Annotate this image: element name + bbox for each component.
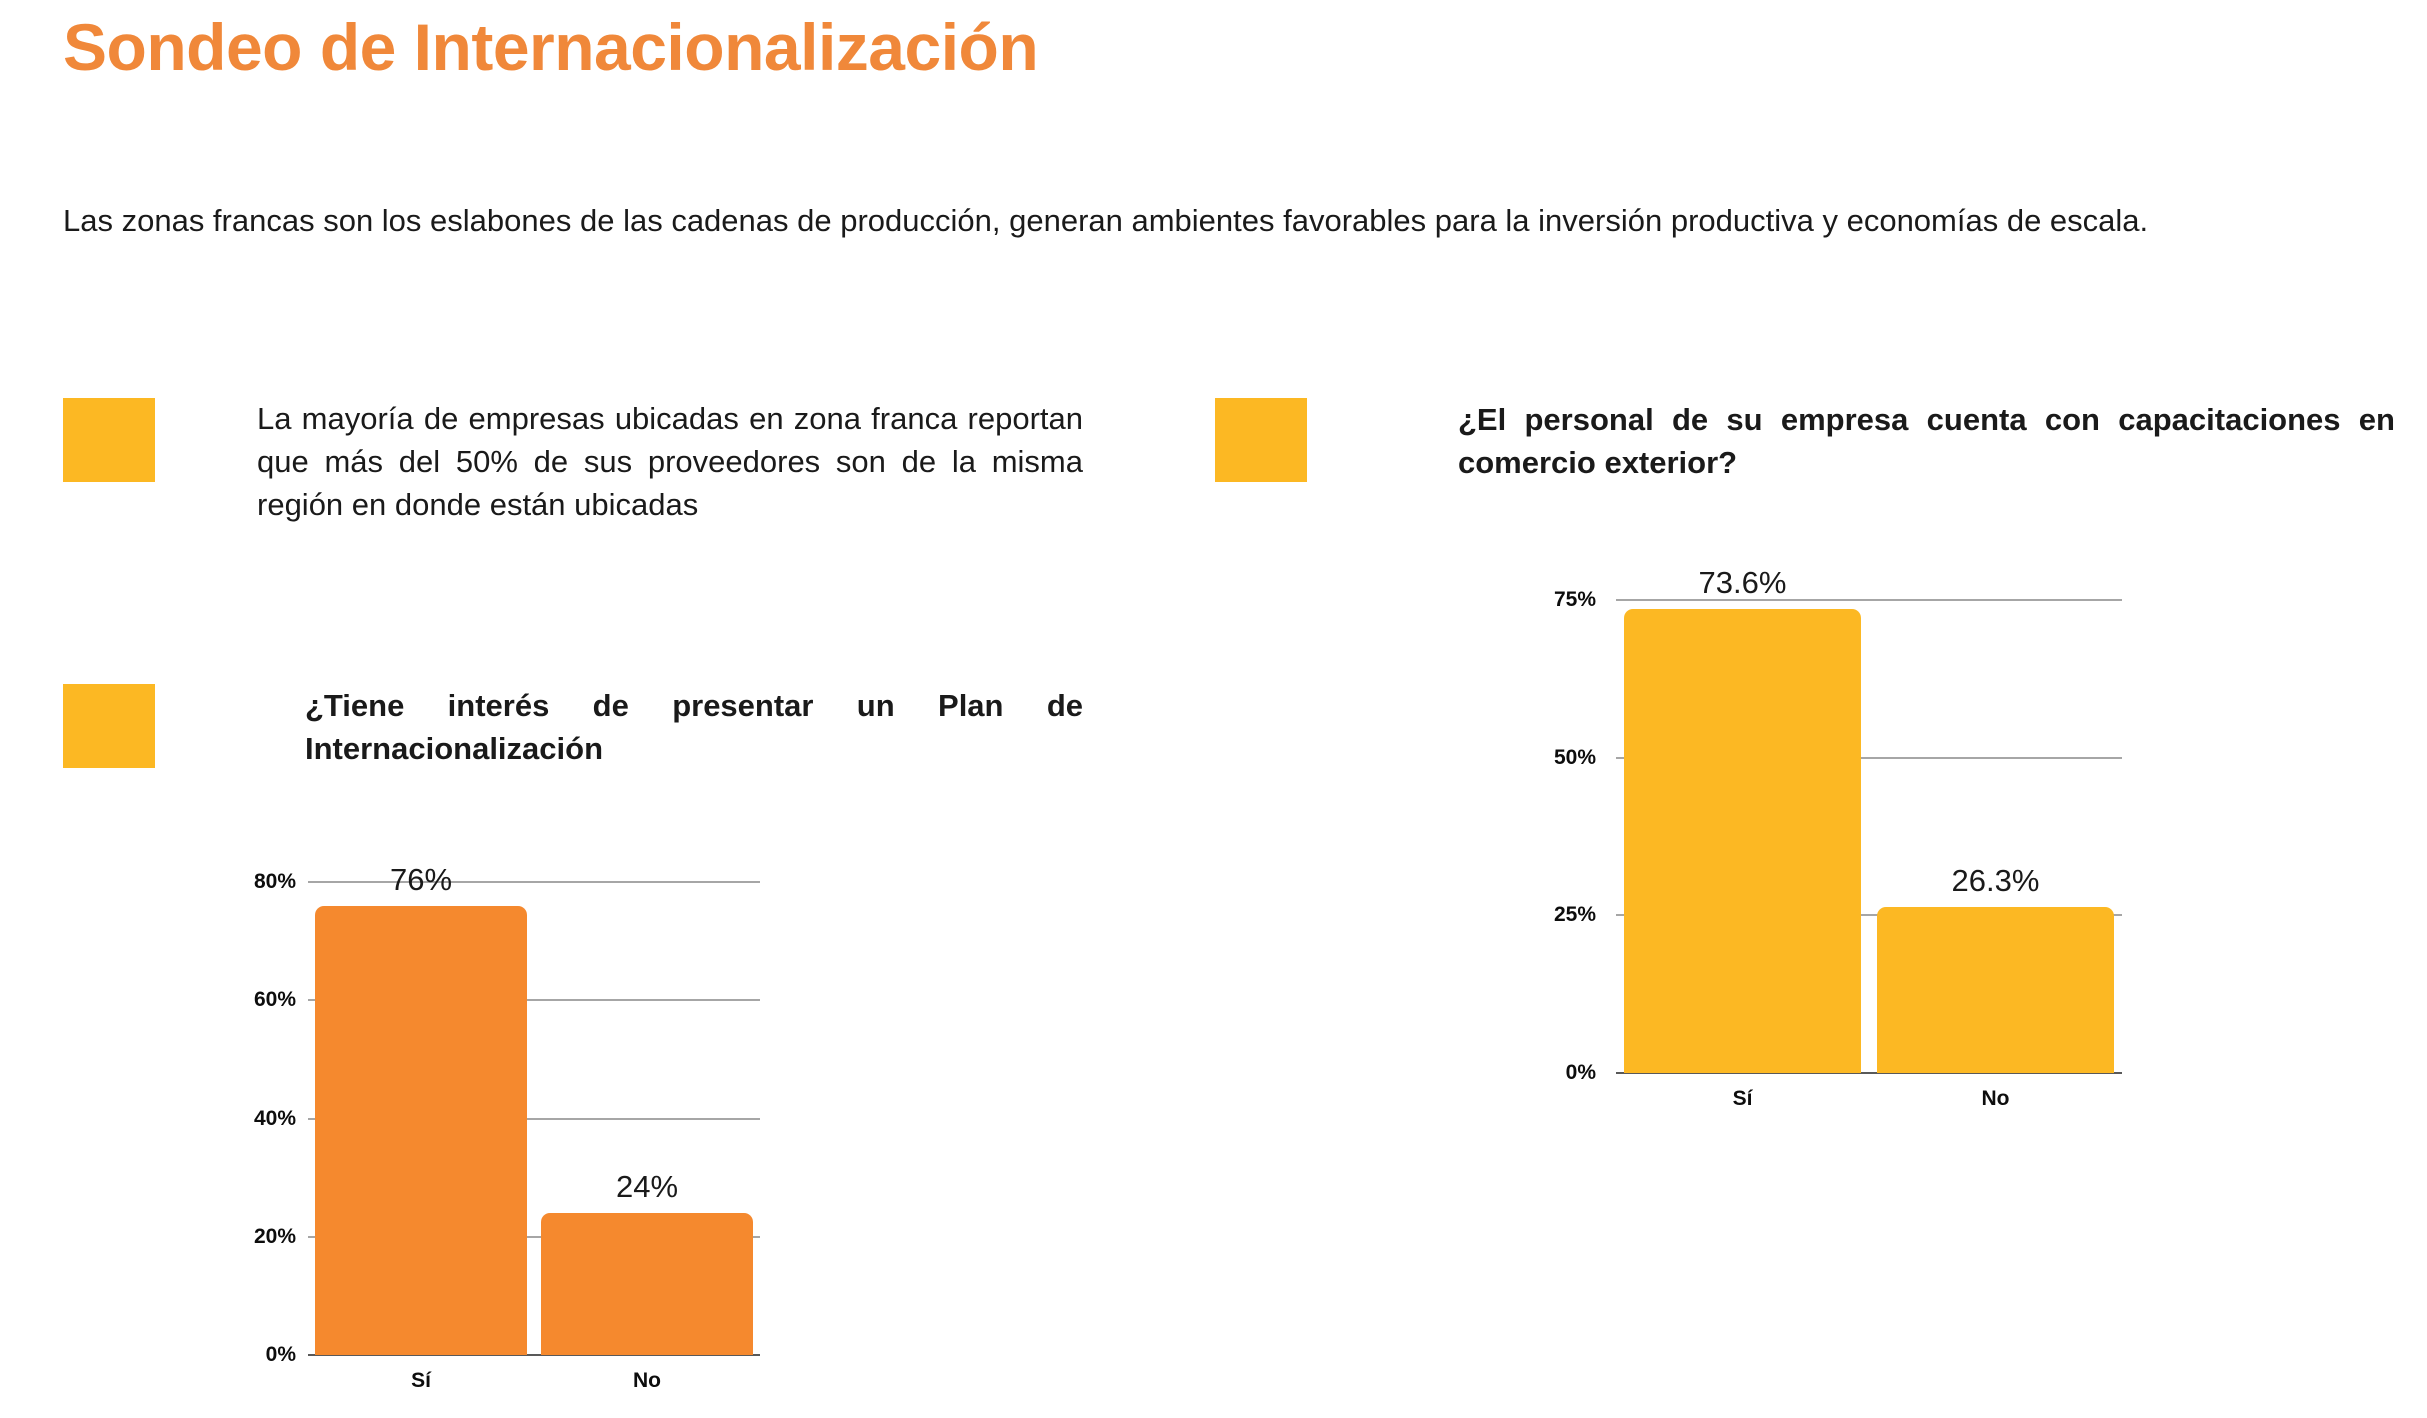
- page-title: Sondeo de Internacionalización: [63, 6, 1038, 89]
- y-axis-tick-label: 0%: [1530, 1061, 1596, 1085]
- y-axis-tick-label: 50%: [1530, 746, 1596, 770]
- bullet-square-icon: [63, 684, 155, 768]
- y-axis-tick-label: 75%: [1530, 588, 1596, 612]
- bar-no: [1877, 907, 2115, 1073]
- bar-chart-capacitaciones: 0%25%50%75%73.6%Sí26.3%No: [1530, 540, 2150, 1140]
- y-axis-tick-label: 60%: [230, 988, 296, 1012]
- bar-data-label: 24%: [527, 1169, 767, 1205]
- bullet-square-icon: [63, 398, 155, 482]
- bar-data-label: 73.6%: [1623, 565, 1863, 601]
- chart-plot-area: 0%25%50%75%73.6%Sí26.3%No: [1530, 540, 2150, 1140]
- x-axis-category-label: Sí: [1643, 1087, 1843, 1111]
- bullet-text-plan-internacionalizacion: ¿Tiene interés de presentar un Plan de I…: [305, 684, 1083, 771]
- bar-data-label: 26.3%: [1876, 863, 2116, 899]
- bullet-text-capacitaciones: ¿El personal de su empresa cuenta con ca…: [1458, 398, 2395, 485]
- y-axis-tick-label: 20%: [230, 1225, 296, 1249]
- x-axis-category-label: No: [547, 1369, 747, 1393]
- y-axis-tick-label: 25%: [1530, 903, 1596, 927]
- bullet-block-proveedores: La mayoría de empresas ubicadas en zona …: [63, 398, 1083, 526]
- y-axis-tick-label: 40%: [230, 1107, 296, 1131]
- bullet-text-proveedores: La mayoría de empresas ubicadas en zona …: [257, 398, 1083, 526]
- bullet-block-capacitaciones: ¿El personal de su empresa cuenta con ca…: [1215, 398, 2395, 485]
- x-axis-category-label: Sí: [321, 1369, 521, 1393]
- slide-canvas: Sondeo de Internacionalización Las zonas…: [0, 0, 2427, 1418]
- bullet-block-plan-internacionalizacion: ¿Tiene interés de presentar un Plan de I…: [63, 684, 1083, 771]
- y-axis-tick-label: 80%: [230, 870, 296, 894]
- chart-plot-area: 0%20%40%60%80%76%Sí24%No: [230, 840, 790, 1418]
- bullet-square-icon: [1215, 398, 1307, 482]
- bar-s: [1624, 609, 1862, 1073]
- y-axis-tick-label: 0%: [230, 1343, 296, 1367]
- bar-no: [541, 1213, 753, 1355]
- bar-data-label: 76%: [301, 862, 541, 898]
- bar-chart-plan-internacionalizacion: 0%20%40%60%80%76%Sí24%No: [230, 840, 790, 1418]
- x-axis-category-label: No: [1896, 1087, 2096, 1111]
- intro-paragraph: Las zonas francas son los eslabones de l…: [63, 200, 2243, 241]
- bar-s: [315, 906, 527, 1355]
